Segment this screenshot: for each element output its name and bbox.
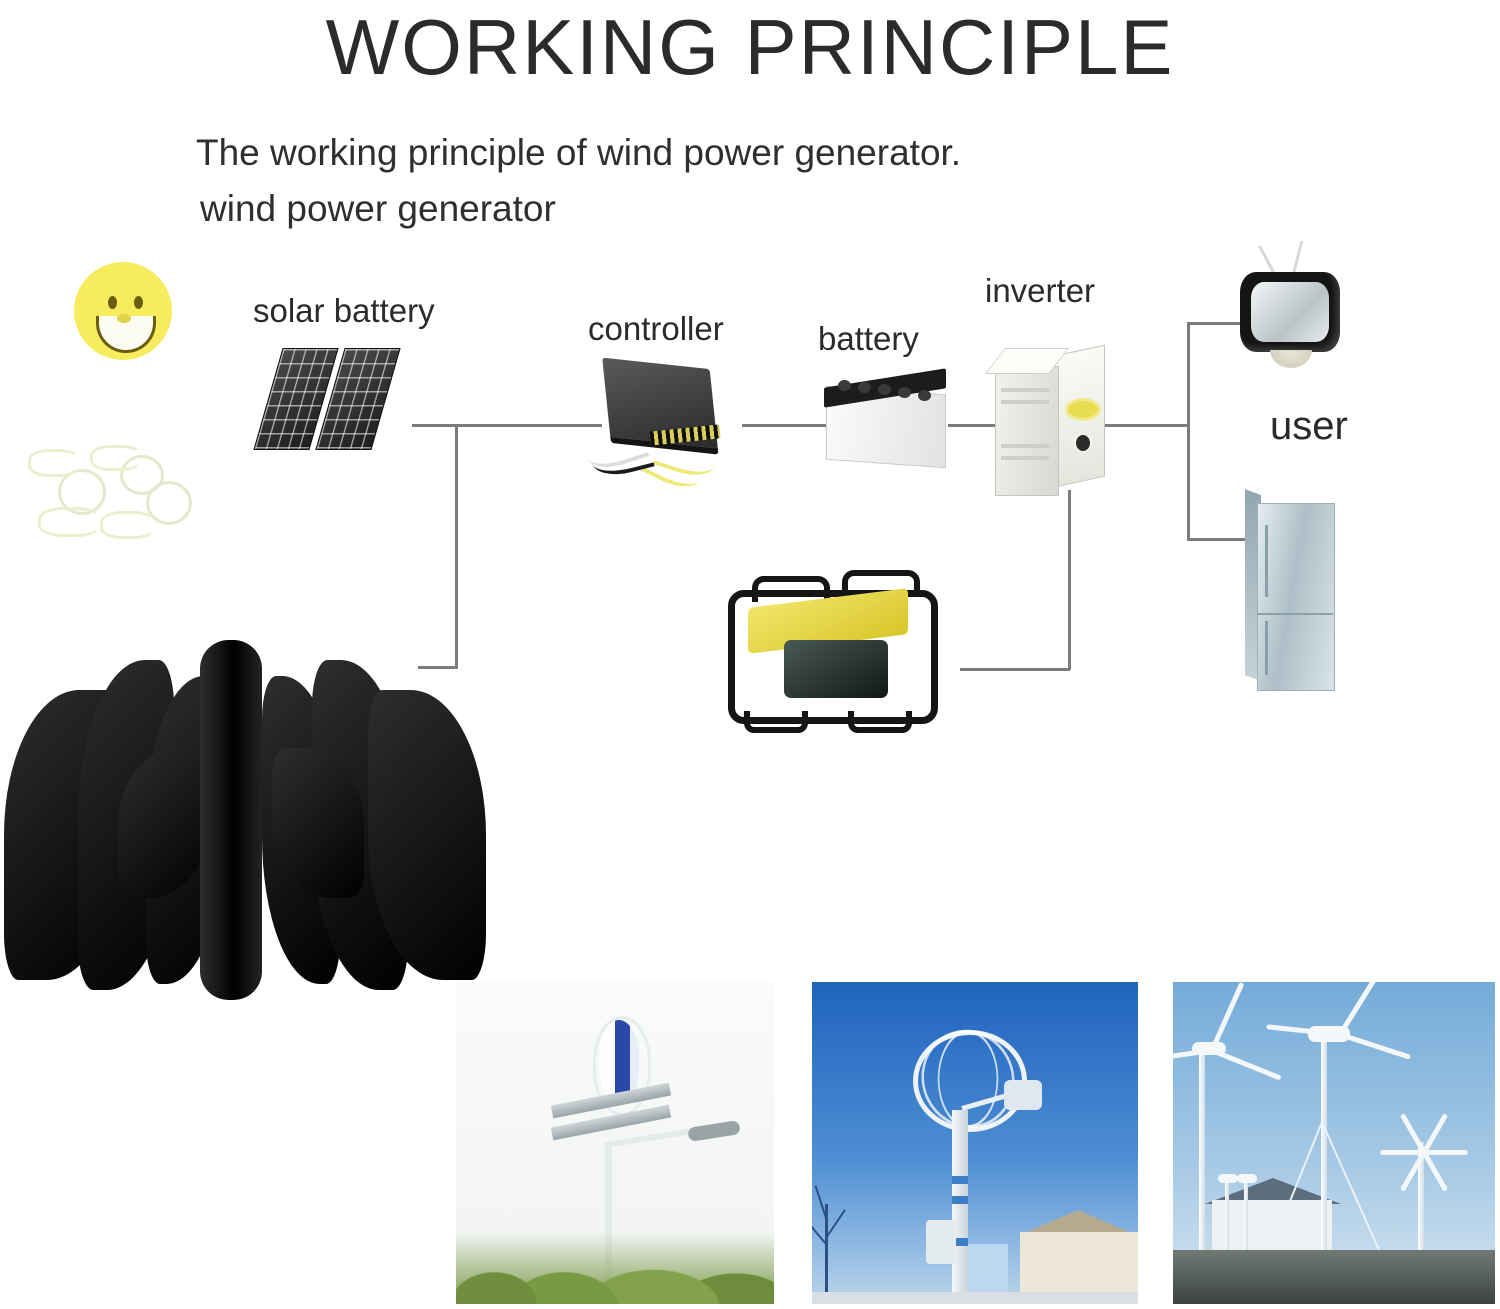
solar-panel-array (262, 348, 390, 452)
page-title: WORKING PRINCIPLE (0, 2, 1500, 93)
wire-user-bus-vertical (1187, 322, 1190, 540)
storage-battery (822, 368, 952, 466)
label-inverter: inverter (985, 272, 1095, 310)
refrigerator (1245, 495, 1355, 695)
label-user: user (1270, 404, 1348, 449)
subtitle-line-2: wind power generator (200, 188, 556, 230)
wire-generator-to-inverter (960, 668, 1070, 671)
power-inverter (995, 340, 1105, 500)
lantern-turbine-pole-photo (812, 982, 1138, 1304)
wind-swirl-icon (28, 445, 218, 555)
television (1240, 272, 1350, 387)
infographic-canvas: WORKING PRINCIPLE The working principle … (0, 0, 1500, 1309)
wire-inverter-to-user-bus (1100, 424, 1190, 427)
hybrid-street-light-photo (456, 982, 774, 1304)
label-controller: controller (588, 310, 724, 348)
sun-icon (48, 236, 198, 386)
wire-inverter-down (1068, 490, 1071, 670)
backup-generator (722, 568, 942, 733)
label-battery: battery (818, 320, 919, 358)
wire-controller-to-battery (742, 424, 826, 427)
label-solar-battery: solar battery (253, 292, 435, 330)
wire-bus-top (452, 424, 602, 427)
wind-farm-photo (1173, 982, 1495, 1304)
subtitle-line-1: The working principle of wind power gene… (196, 132, 961, 174)
vertical-axis-wind-turbine (0, 630, 500, 1030)
charge-controller (598, 358, 738, 478)
